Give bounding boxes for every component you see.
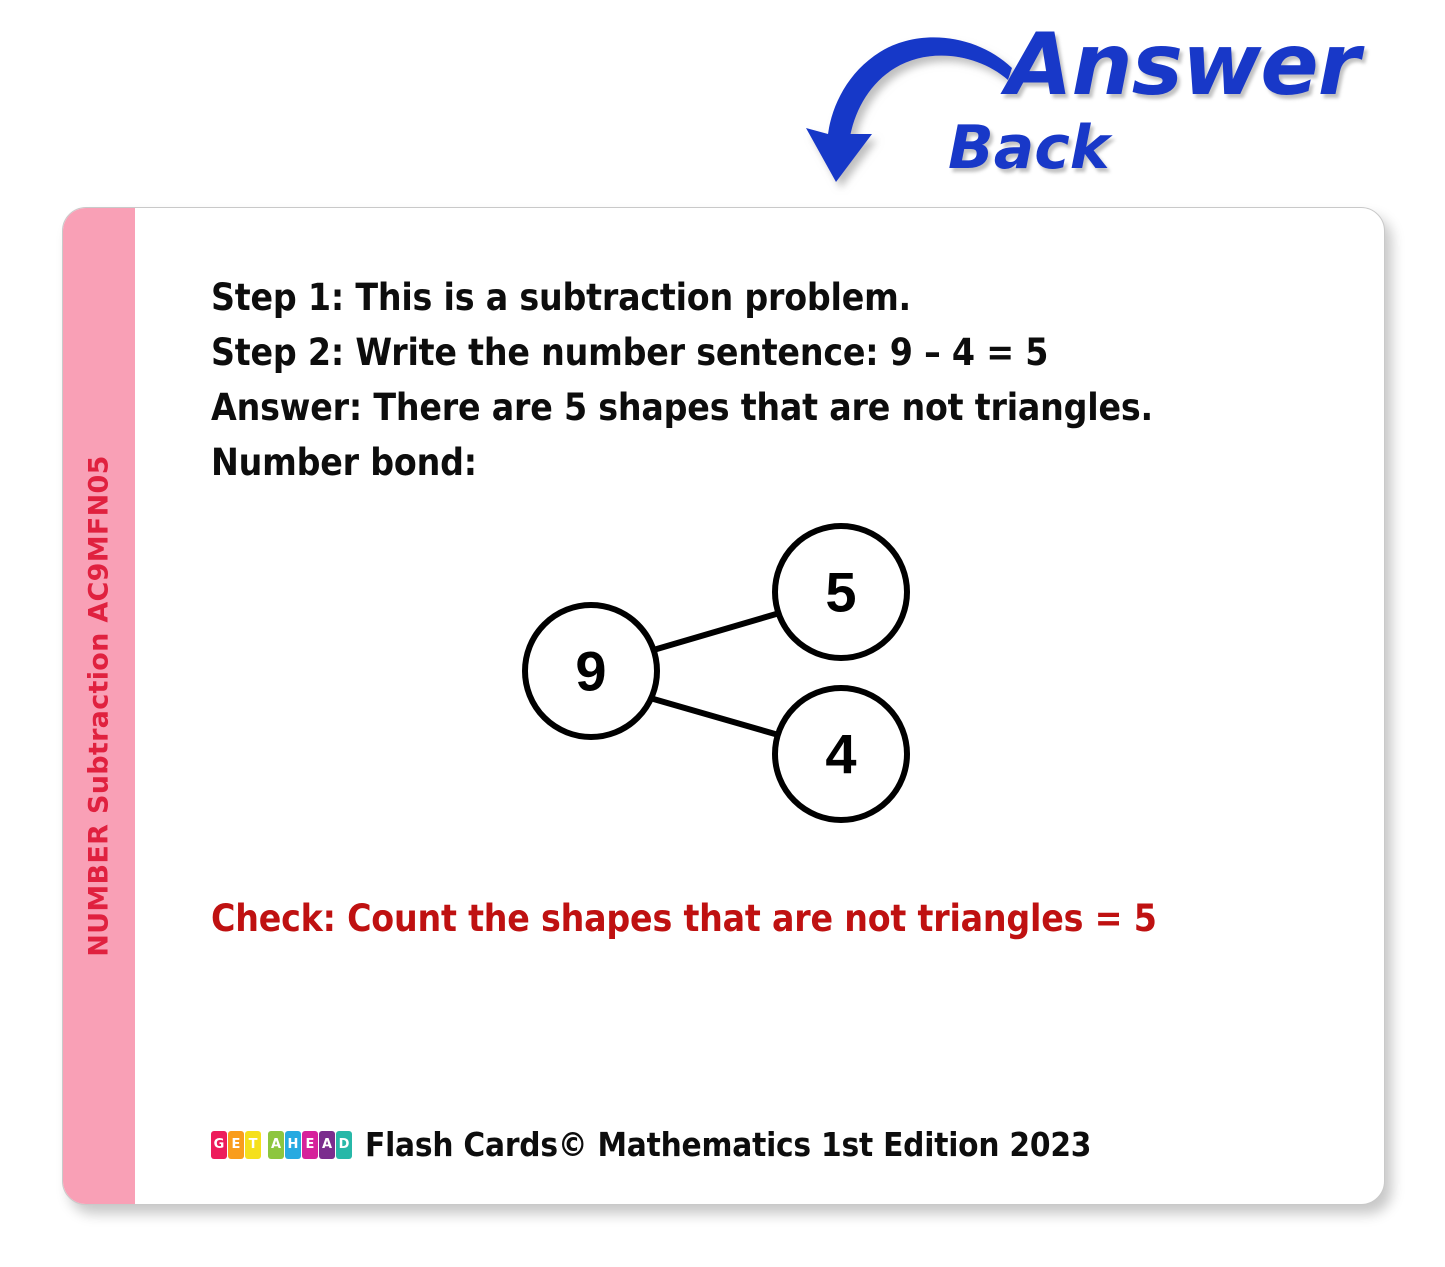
- bond-edge-whole-to-bottom: [650, 698, 782, 736]
- get-ahead-logo: GET AHEAD: [211, 1131, 352, 1159]
- footer-text: Flash Cards© Mathematics 1st Edition 202…: [365, 1128, 1091, 1162]
- check-line: Check: Count the shapes that are not tri…: [211, 896, 1157, 942]
- logo-tile-d: D: [336, 1131, 352, 1159]
- flashcard: NUMBER Subtraction AC9MFN05 Step 1: This…: [62, 207, 1385, 1205]
- logo-tile-a: A: [319, 1131, 335, 1159]
- step-line: Step 2: Write the number sentence: 9 – 4…: [211, 325, 1311, 380]
- card-spine-label: NUMBER Subtraction AC9MFN05: [84, 455, 115, 956]
- number-bond-diagram: 9 5 4: [495, 508, 955, 848]
- logo-tile-a: A: [268, 1131, 284, 1159]
- logo-tile-e: E: [228, 1131, 244, 1159]
- logo-word-ahead: AHEAD: [268, 1131, 352, 1159]
- answer-title: Answer: [1006, 22, 1359, 108]
- card-spine: NUMBER Subtraction AC9MFN05: [63, 208, 135, 1204]
- step-line: Number bond:: [211, 435, 1311, 490]
- bond-node-part-bottom-value: 4: [825, 723, 856, 786]
- bond-node-whole-value: 9: [575, 640, 606, 703]
- back-label: Back: [948, 118, 1110, 178]
- step-line: Answer: There are 5 shapes that are not …: [211, 380, 1311, 435]
- logo-tile-e: E: [302, 1131, 318, 1159]
- step-line: Step 1: This is a subtraction problem.: [211, 270, 1311, 325]
- card-footer: GET AHEAD Flash Cards© Mathematics 1st E…: [211, 1128, 1091, 1162]
- bond-node-part-top-value: 5: [825, 561, 856, 624]
- card-body: Step 1: This is a subtraction problem. S…: [135, 208, 1384, 1204]
- logo-tile-h: H: [285, 1131, 301, 1159]
- answer-back-header: Answer Back: [790, 10, 1410, 200]
- answer-steps-block: Step 1: This is a subtraction problem. S…: [211, 270, 1311, 490]
- logo-word-get: GET: [211, 1131, 261, 1159]
- logo-tile-t: T: [245, 1131, 261, 1159]
- bond-edge-whole-to-top: [650, 612, 783, 651]
- logo-tile-g: G: [211, 1131, 227, 1159]
